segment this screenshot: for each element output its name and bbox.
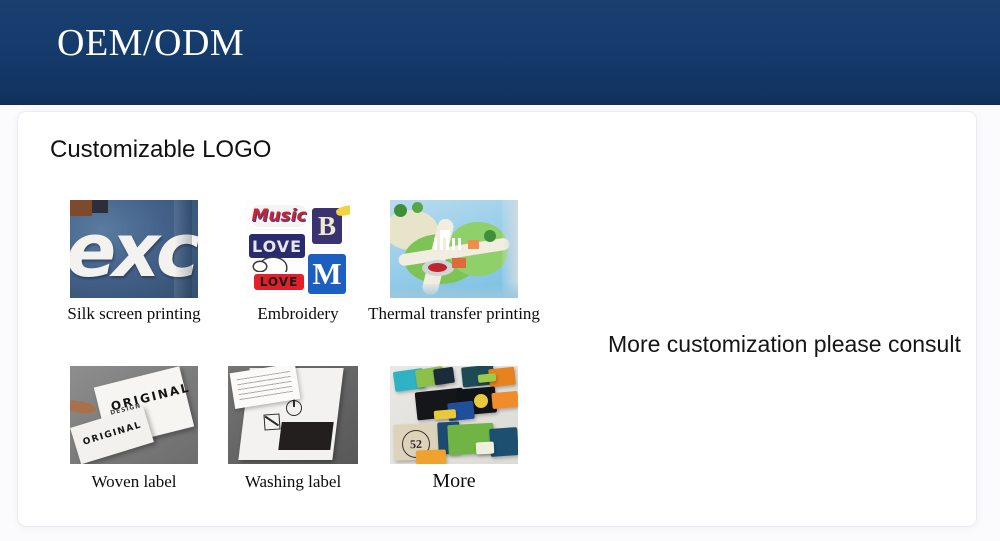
fabric-bottom-shadow xyxy=(390,284,518,298)
page-title: OEM/ODM xyxy=(57,21,244,65)
tag-orange-small xyxy=(491,391,518,409)
map-house-c xyxy=(440,230,450,238)
map-house-b xyxy=(468,240,479,249)
map-tree-a xyxy=(394,204,407,217)
map-building-row xyxy=(434,238,464,250)
sample-caption-more: More xyxy=(432,470,475,493)
fabric-fold-shadow xyxy=(174,200,192,298)
sample-thumbnail-more[interactable]: 52 xyxy=(390,366,518,464)
more-labels-artwork: 52 xyxy=(390,366,518,464)
slide-page: OEM/ODM Customizable LOGO excit Silk scr… xyxy=(0,0,1000,541)
consult-note: More customization please consult xyxy=(608,331,961,358)
sample-caption-thermal-transfer-printing: Thermal transfer printing xyxy=(368,304,540,324)
patch-b-accent xyxy=(335,203,350,217)
tag-yellow-strip xyxy=(434,409,457,420)
page-header: OEM/ODM xyxy=(0,0,1000,105)
samples-grid: excit Silk screen printing Music LOVE LO… xyxy=(18,112,976,526)
tag-navy-small xyxy=(433,367,455,386)
no-bleach-icon xyxy=(263,413,280,430)
sample-thumbnail-thermal-transfer-printing[interactable] xyxy=(390,200,518,298)
silk-screen-artwork: excit xyxy=(70,200,198,298)
sample-thumbnail-washing-label[interactable] xyxy=(228,366,358,464)
sample-thumbnail-embroidery[interactable]: Music LOVE LOVE B M xyxy=(246,200,350,298)
sample-caption-embroidery: Embroidery xyxy=(257,304,338,324)
hand-icon xyxy=(70,400,97,415)
woven-label-artwork: ORIGINAL DESIGN ORIGINAL xyxy=(70,366,198,464)
tag-cream xyxy=(476,442,495,455)
thermal-transfer-artwork xyxy=(390,200,518,298)
patch-letter-m: M xyxy=(308,254,346,294)
care-label-black-bar xyxy=(278,422,333,450)
sample-thumbnail-silk-screen-printing[interactable]: excit xyxy=(70,200,198,298)
map-tree-b xyxy=(412,202,423,213)
sample-thumbnail-woven-label[interactable]: ORIGINAL DESIGN ORIGINAL xyxy=(70,366,198,464)
sample-caption-silk-screen-printing: Silk screen printing xyxy=(67,304,200,324)
sample-caption-woven-label: Woven label xyxy=(91,472,176,492)
patch-music: Music xyxy=(252,205,306,227)
patch-love-blue: LOVE xyxy=(249,234,305,258)
content-card: Customizable LOGO excit Silk screen prin… xyxy=(18,112,976,526)
map-house-a xyxy=(452,258,466,268)
patch-love-red: LOVE xyxy=(254,274,304,290)
map-pond-center xyxy=(428,263,447,272)
washing-label-artwork xyxy=(228,366,358,464)
embroidery-artwork: Music LOVE LOVE B M xyxy=(246,200,350,298)
sample-caption-washing-label: Washing label xyxy=(245,472,341,492)
map-tree-c xyxy=(484,230,496,242)
tag-amber xyxy=(416,449,446,464)
gear-icon xyxy=(474,394,488,408)
tumble-dry-icon xyxy=(286,400,302,416)
